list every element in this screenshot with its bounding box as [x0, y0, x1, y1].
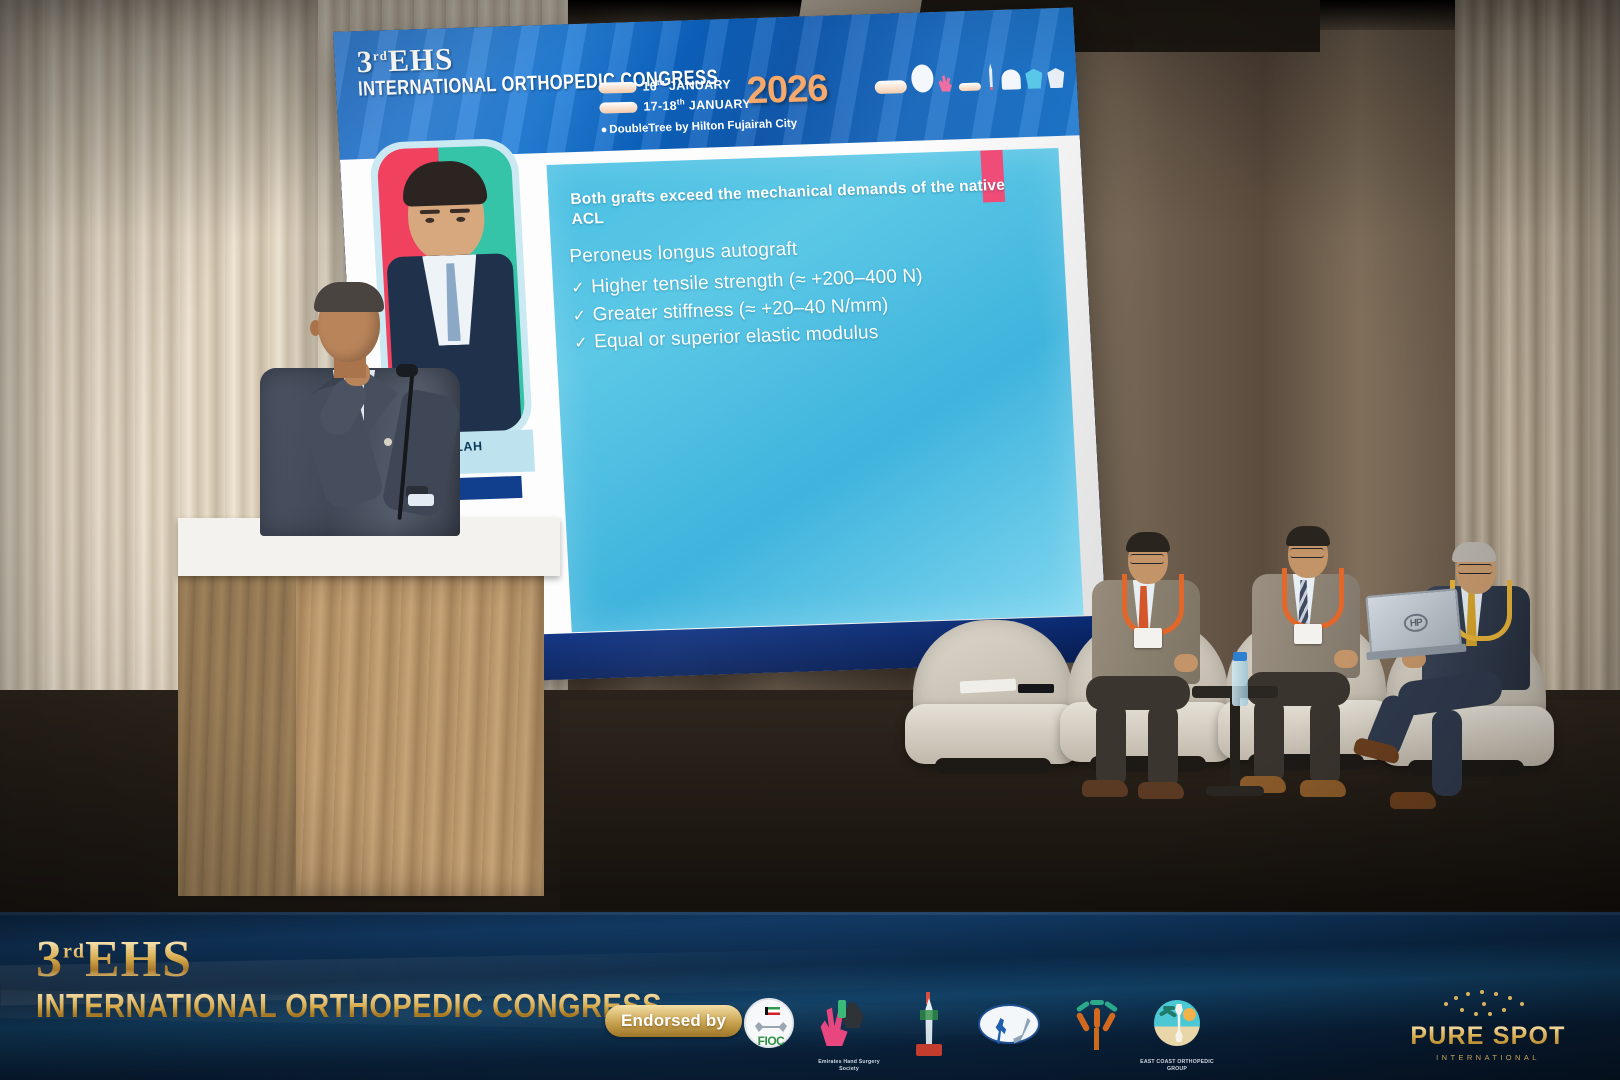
east-coast-caption: EAST COAST ORTHOPEDIC GROUP [1136, 1059, 1218, 1072]
pure-spot-wordmark: PURE SPOT [1390, 1022, 1586, 1051]
portrait-hair [401, 160, 487, 207]
panelist-center-shoe-2 [1300, 780, 1346, 797]
tree-trunk [1094, 1028, 1099, 1050]
pure-spot-dome-icon [1390, 992, 1586, 1022]
panelist-center-shin-2 [1310, 700, 1340, 786]
tree-branch-3 [1102, 1012, 1117, 1032]
fioc-emblem: FIOC [744, 998, 794, 1048]
slide-dates-block: 16th JANUARY 17-18th JANUARY [598, 75, 751, 118]
pure-spot-sponsor-logo: PURE SPOT INTERNATIONAL [1390, 992, 1586, 1062]
banner-logo-number: 3 [36, 931, 63, 988]
location-pin-icon: ● [600, 124, 607, 136]
tower-base-icon [916, 1044, 942, 1056]
panelist-right-shin [1432, 710, 1462, 796]
slide-date-row-2: 17-18th JANUARY [599, 94, 751, 117]
date1-ordinal: th [657, 78, 666, 87]
tree-branch-1 [1076, 1012, 1091, 1032]
tower-institution-logo [898, 998, 960, 1072]
tower-icon [920, 998, 938, 1050]
water-bottle [1232, 660, 1248, 706]
panelist-right-shoe [1390, 792, 1436, 809]
date2-month: JANUARY [688, 96, 751, 112]
banner-top-edge [0, 912, 1620, 915]
slide-year: 2026 [746, 68, 829, 114]
water-bottle-cap [1233, 652, 1247, 661]
pink-hand-icon [938, 74, 954, 91]
panelist-left-legs [1078, 536, 1196, 632]
armchair-empty [905, 620, 1081, 788]
presenter-hair [314, 282, 384, 312]
date1-day: 16 [642, 79, 657, 93]
panelist-right [1408, 546, 1558, 796]
portrait-brow-left [420, 210, 440, 215]
panelist-left-hand [1174, 654, 1198, 672]
slide-bullet-list: ✓Higher tensile strength (≈ +200–400 N) … [570, 258, 1054, 356]
sports-medicine-emblem [978, 1004, 1040, 1044]
panelist-center-hand [1334, 650, 1358, 668]
check-icon-3: ✓ [574, 332, 595, 356]
bone-logo-icon [959, 83, 981, 92]
tower-icon [985, 63, 997, 90]
slide-title: Both grafts exceed the mechanical demand… [570, 175, 1042, 231]
sun-icon [1183, 1008, 1196, 1021]
armchair-seat [905, 704, 1081, 764]
sports-medicine-logo [978, 998, 1048, 1072]
date2-day: 17-18 [643, 98, 677, 113]
panelist-left-shoe [1082, 780, 1128, 797]
panelist-left-shoe-2 [1138, 782, 1184, 799]
east-coast-orthopedic-logo: EAST COAST ORTHOPEDIC GROUP [1146, 998, 1208, 1072]
banner-congress-logo: 3rdEHS INTERNATIONAL ORTHOPEDIC CONGRESS [36, 936, 662, 1021]
banner-logo-acronym: EHS [85, 931, 192, 988]
bone-icon [1174, 1004, 1184, 1042]
panelist-center-badge [1294, 624, 1322, 644]
green-accent-icon [838, 1000, 846, 1018]
slide-logo-ordinal: rd [372, 48, 388, 63]
palm-tree-icon [1159, 1006, 1175, 1024]
emirates-hand-surgery-caption: Emirates Hand Surgery Society [808, 1059, 890, 1072]
microphone-capsule [396, 364, 418, 377]
crest-alt-icon [1047, 68, 1065, 89]
slide-content-pane: Both grafts exceed the mechanical demand… [547, 148, 1084, 632]
podium-side-panel [178, 570, 296, 896]
hp-logo-icon: HP [1403, 613, 1428, 633]
oval-logo-icon [911, 64, 935, 93]
slide-subtitle: Peroneus longus autograft [569, 239, 798, 269]
tree-institution-logo [1066, 998, 1128, 1072]
conference-stage-photo: 3rdEHS INTERNATIONAL ORTHOPEDIC CONGRESS… [0, 0, 1620, 1080]
tree-leaf-1 [1076, 1001, 1090, 1013]
portrait-brow-right [450, 209, 470, 214]
endorser-logo-row: FIOC Emirates Hand Surgery Society [738, 992, 1208, 1072]
presenter-cuff-right [408, 494, 434, 506]
fioc-logo: FIOC [738, 998, 800, 1072]
pure-spot-tagline: INTERNATIONAL [1390, 1053, 1586, 1062]
check-icon-2: ✓ [572, 304, 593, 328]
east-coast-emblem [1154, 1000, 1200, 1046]
presenter-lapel-pin [384, 438, 392, 446]
date2-ordinal: th [677, 97, 686, 106]
side-table-foot [1206, 786, 1264, 796]
speaker-podium [178, 518, 560, 896]
emirates-hand-surgery-logo: Emirates Hand Surgery Society [818, 998, 880, 1072]
uae-flag-icon [765, 1007, 780, 1015]
tower-band-icon [920, 1010, 938, 1020]
fioc-wordmark: FIOC [746, 1034, 796, 1048]
skier-icon [1012, 1018, 1034, 1044]
mobile-phone [1018, 684, 1054, 693]
check-icon-1: ✓ [571, 277, 592, 301]
banner-logo-subtitle: INTERNATIONAL ORTHOPEDIC CONGRESS [36, 988, 662, 1026]
bone-icon [755, 1022, 787, 1032]
hp-laptop: HP [1365, 588, 1462, 662]
tree-branch-2 [1094, 1008, 1100, 1028]
panelist-center-legs [1240, 530, 1358, 626]
endorsed-by-badge: Endorsed by [605, 1005, 742, 1037]
crest-icon [1025, 68, 1043, 89]
slide-logo-number: 3 [356, 44, 374, 79]
date1-month: JANUARY [669, 77, 732, 93]
date-pill-icon [598, 82, 637, 94]
runner-icon [994, 1018, 1010, 1044]
tree-icon [1074, 1000, 1120, 1050]
panelist-left-shin [1096, 702, 1126, 788]
banner-logo-ordinal: rd [63, 941, 85, 963]
tree-leaf-3 [1104, 1001, 1118, 1013]
tree-leaf-2 [1090, 1000, 1104, 1005]
panelist-left-shin-2 [1148, 704, 1178, 790]
presenter-at-podium [256, 282, 466, 532]
date-pill-icon-2 [599, 102, 638, 114]
side-table-stem [1230, 698, 1240, 788]
dome-icon [1001, 69, 1021, 90]
slide-logo-acronym: EHS [387, 41, 454, 78]
armchair-base [935, 758, 1051, 774]
pill-logo-icon [874, 80, 907, 94]
slide-bullet-3-text: Equal or superior elastic modulus [594, 322, 879, 352]
